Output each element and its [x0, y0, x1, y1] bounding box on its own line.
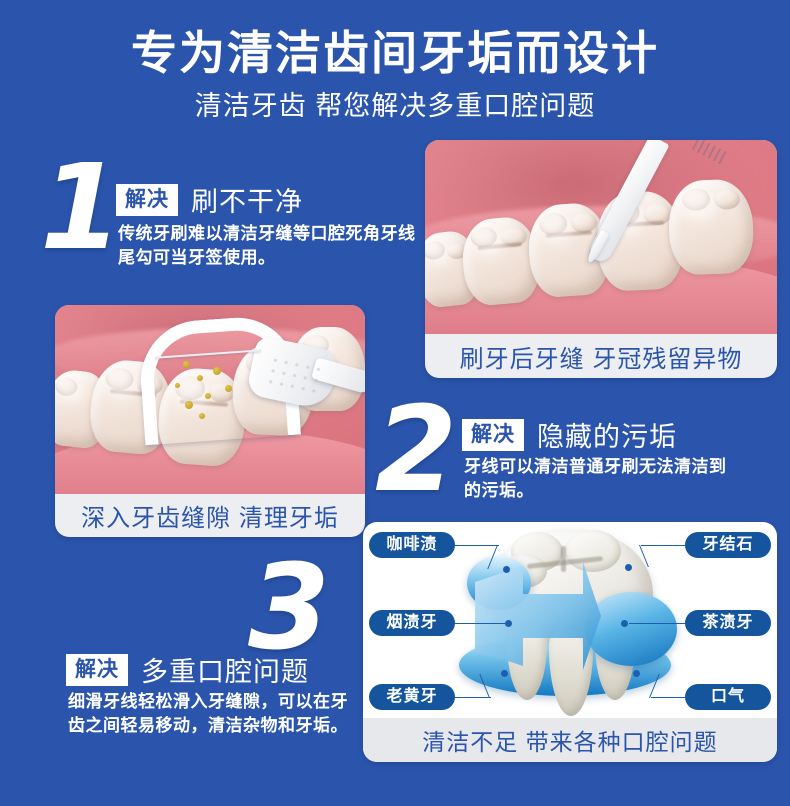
- step-2-heading: 隐藏的污垢: [537, 415, 677, 454]
- lead-line: [455, 697, 491, 698]
- step-2-heading-row: 解决隐藏的污垢: [462, 415, 677, 454]
- page-title: 专为清洁齿间牙垢而设计: [0, 24, 790, 82]
- photo-deep-clean-image: [55, 305, 365, 494]
- clean-direction-arrow: [471, 560, 603, 672]
- page-subtitle: 清洁牙齿 帮您解决多重口腔问题: [0, 88, 790, 124]
- label-yellow-teeth: 老黄牙: [369, 684, 455, 710]
- tooth: [667, 179, 754, 276]
- photo-caption-deep-clean: 深入牙齿缝隙 清理牙垢: [55, 494, 365, 537]
- lead-line: [455, 545, 499, 546]
- lead-line: [641, 545, 685, 546]
- photo-card-deep-clean: 深入牙齿缝隙 清理牙垢: [55, 305, 365, 537]
- photo-caption-brushing-residue: 刷牙后牙缝 牙冠残留异物: [425, 334, 777, 378]
- step-numeral-1: 1: [40, 148, 120, 266]
- diagram-illustration: 咖啡渍 烟渍牙 老黄牙 牙结石 茶渍牙 口气: [363, 522, 777, 718]
- step-numeral-2: 2: [375, 390, 455, 508]
- diagram-caption: 清洁不足 带来各种口腔问题: [363, 718, 777, 762]
- solve-badge-2: 解决: [462, 419, 524, 451]
- lead-dot: [505, 620, 512, 627]
- oral-problems-diagram-card: 咖啡渍 烟渍牙 老黄牙 牙结石 茶渍牙 口气 清洁不足 带来各种口腔问题: [363, 522, 777, 762]
- label-coffee-stain: 咖啡渍: [369, 532, 455, 558]
- step-2-body: 牙线可以清洁普通牙刷无法清洁到的污垢。: [464, 455, 736, 503]
- step-3-heading-row: 解决多重口腔问题: [66, 650, 309, 689]
- step-3-heading: 多重口腔问题: [141, 650, 309, 689]
- label-tea-stain: 茶渍牙: [685, 610, 771, 636]
- step-3-body: 细滑牙线轻松滑入牙缝隙，可以在牙齿之间轻易移动，清洁杂物和牙垢。: [68, 690, 358, 738]
- step-1-heading-row: 解决刷不干净: [116, 180, 303, 219]
- lead-dot: [501, 670, 508, 677]
- solve-badge-3: 解决: [66, 654, 128, 686]
- step-1-body: 传统牙刷难以清洁牙缝等口腔死角牙线尾勾可当牙签使用。: [118, 222, 418, 270]
- label-bad-breath: 口气: [685, 684, 771, 710]
- lead-line: [455, 623, 505, 624]
- lead-line: [629, 623, 685, 624]
- lead-dot: [621, 620, 628, 627]
- lead-dot: [625, 564, 632, 571]
- label-tartar: 牙结石: [685, 532, 771, 558]
- photo-card-brushing-residue: 刷牙后牙缝 牙冠残留异物: [425, 140, 777, 378]
- step-numeral-3: 3: [248, 548, 328, 666]
- promo-page: 专为清洁齿间牙垢而设计 清洁牙齿 帮您解决多重口腔问题 1 解决刷不干净 传统牙…: [0, 0, 790, 806]
- step-1-heading: 刷不干净: [191, 180, 303, 219]
- lead-line: [651, 697, 685, 698]
- label-smoke-stain: 烟渍牙: [369, 610, 455, 636]
- solve-badge-1: 解决: [116, 184, 178, 216]
- photo-brushing-residue-image: [425, 140, 777, 334]
- lead-dot: [503, 566, 510, 573]
- lead-dot: [633, 670, 640, 677]
